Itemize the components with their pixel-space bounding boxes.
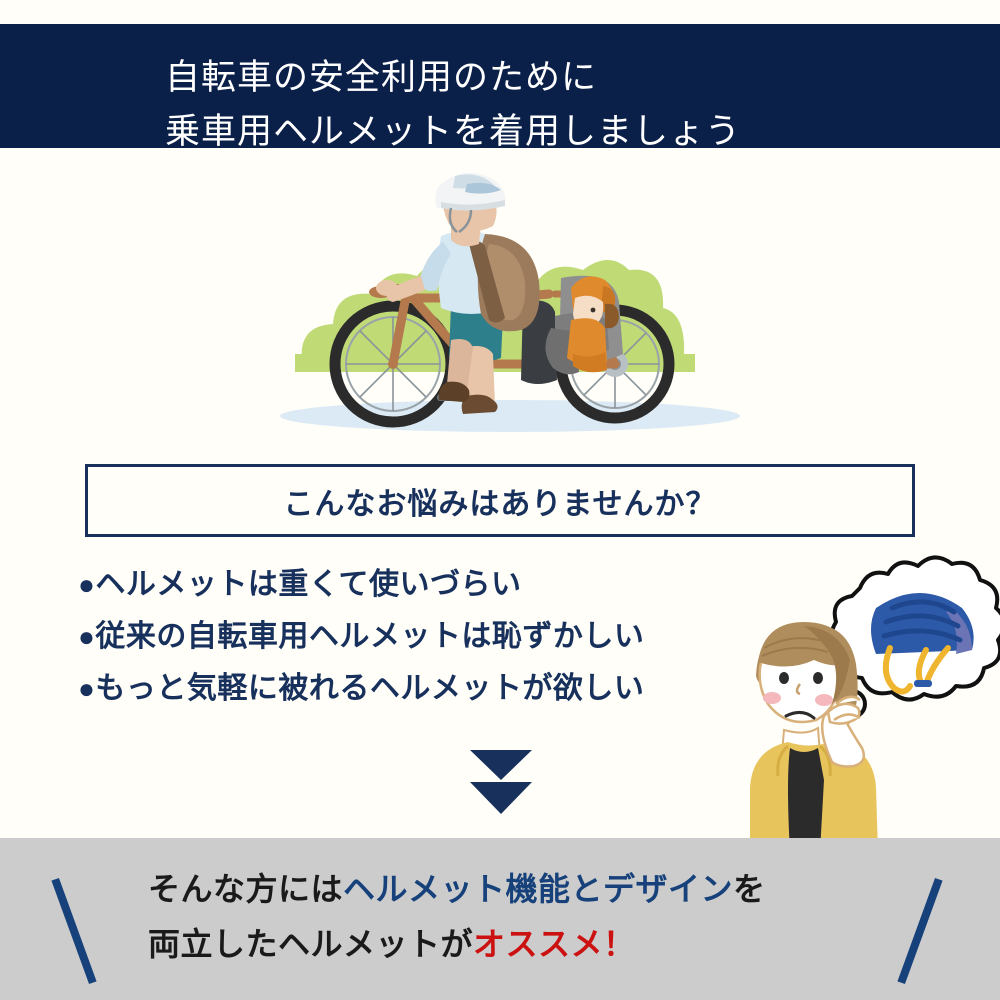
list-item-label: 従来の自転車用ヘルメットは恥ずかしい [95,620,644,653]
problem-list: ●ヘルメットは重くて使いづらい ●従来の自転車用ヘルメットは恥ずかしい ●もっと… [78,570,798,726]
header-banner: 自転車の安全利用のために 乗車用ヘルメットを着用しましょう [0,24,1000,148]
cta-band [0,838,1000,1000]
cta-line2-highlight: オススメ！ [473,926,636,962]
question-box: こんなお悩みはありませんか？ [85,464,915,537]
list-item-label: ヘルメットは重くて使いづらい [95,568,521,601]
cta-line-1: そんな方にはヘルメット機能とデザインを [148,873,766,905]
banner-title-line-1: 自転車の安全利用のために [165,60,597,95]
list-item: ●従来の自転車用ヘルメットは恥ずかしい [78,622,798,652]
bullet-dot-icon: ● [78,621,95,652]
banner-title-line-2: 乗車用ヘルメットを着用しましょう [165,114,741,149]
list-item: ●ヘルメットは重くて使いづらい [78,570,798,600]
list-item: ●もっと気軽に被れるヘルメットが欲しい [78,674,798,704]
double-chevron-down-icon [466,748,536,820]
bullet-dot-icon: ● [78,569,95,600]
cta-line1-highlight: ヘルメット機能とデザイン [343,871,733,907]
cta-line1-suffix: を [733,871,766,907]
promo-page: 自転車の安全利用のために 乗車用ヘルメットを着用しましょう [0,0,1000,1000]
list-item-label: もっと気軽に被れるヘルメットが欲しい [95,672,644,705]
cta-line2-prefix: 両立したヘルメットが [148,926,473,962]
cta-line1-prefix: そんな方には [148,871,343,907]
question-box-text: こんなお悩みはありませんか？ [283,479,716,523]
cyclist-with-child-illustration [255,158,755,448]
thinking-woman-illustration [742,552,1000,852]
cta-line-2: 両立したヘルメットがオススメ！ [148,928,636,960]
bullet-dot-icon: ● [78,673,95,704]
